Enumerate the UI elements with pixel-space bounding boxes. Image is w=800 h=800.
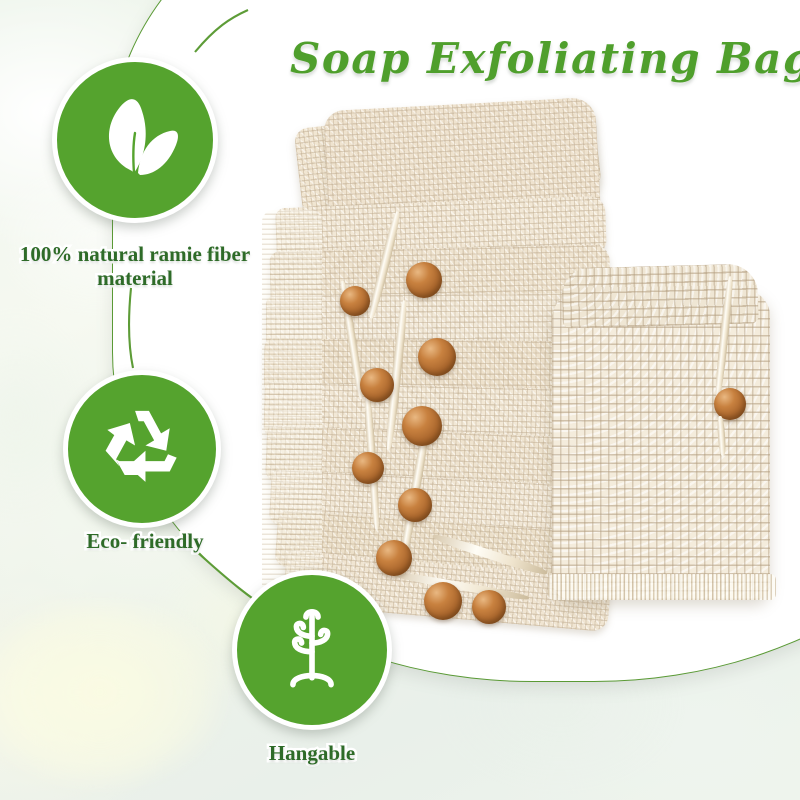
badge-label-natural: 100% natural ramie fiber material <box>10 243 260 290</box>
wooden-bead <box>340 286 370 316</box>
badge-label-eco: Eco- friendly <box>20 530 270 554</box>
leaf-icon <box>80 85 190 195</box>
wooden-bead <box>424 582 462 620</box>
wooden-bead <box>376 540 412 576</box>
badge-circle-hangable[interactable] <box>232 570 392 730</box>
wooden-bead <box>360 368 394 402</box>
wooden-bead <box>472 590 506 624</box>
bag-upright-fringe <box>548 574 776 600</box>
page-title: Soap Exfoliating Bag <box>290 34 770 83</box>
wooden-bead <box>352 452 384 484</box>
wooden-bead <box>402 406 442 446</box>
wooden-bead <box>398 488 432 522</box>
badge-circle-natural[interactable] <box>52 57 218 223</box>
wooden-bead <box>418 338 456 376</box>
badge-circle-eco[interactable] <box>63 370 221 528</box>
badge-label-hangable: Hangable <box>192 742 432 766</box>
coat-rack-icon <box>260 598 364 702</box>
bag-stack-fringe <box>262 210 322 610</box>
recycle-icon <box>90 397 194 501</box>
wooden-bead <box>406 262 442 298</box>
bag-upright <box>552 290 770 600</box>
infographic-canvas: 100% natural ramie fiber material Eco- f… <box>0 0 800 800</box>
